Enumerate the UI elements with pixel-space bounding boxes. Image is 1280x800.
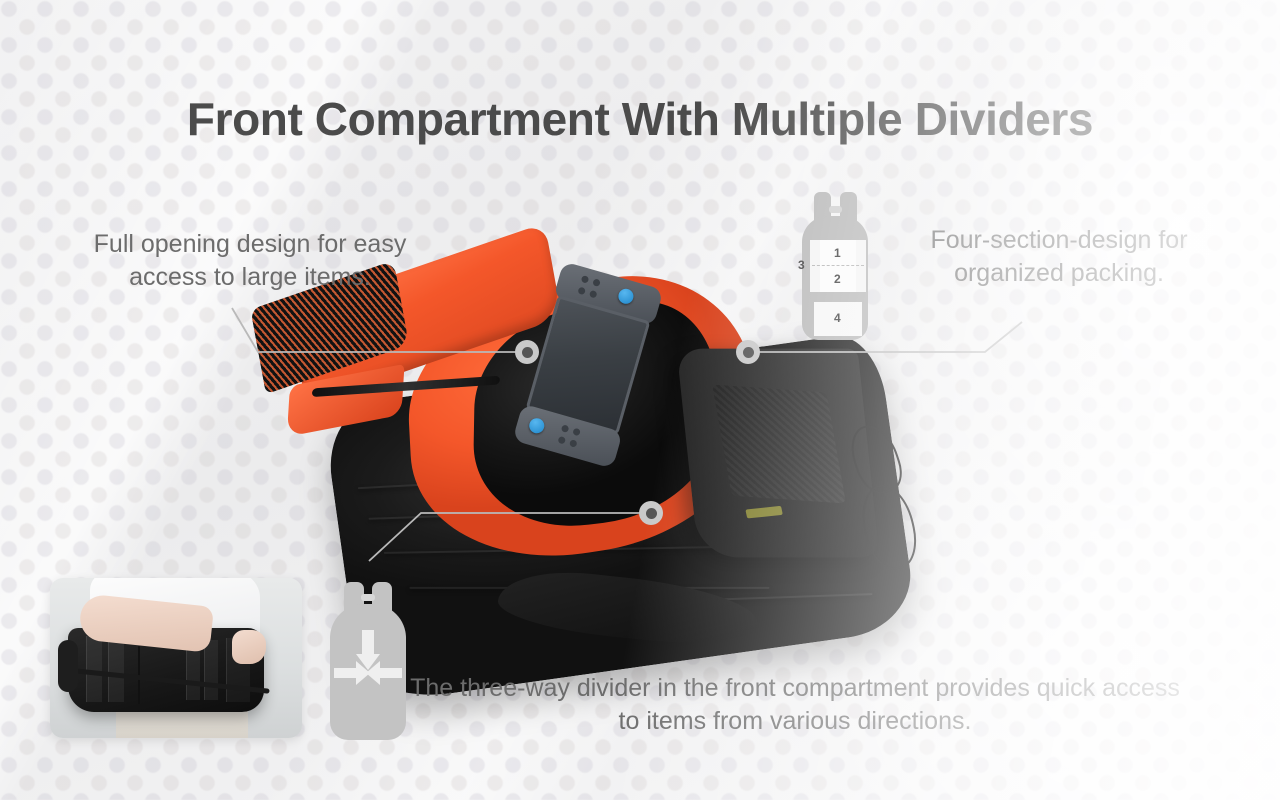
callout-dot-2[interactable] — [736, 340, 760, 364]
molle-webbing — [108, 636, 124, 702]
callout-dot-core — [743, 347, 754, 358]
molle-webbing — [204, 640, 218, 700]
callout-dot-3[interactable] — [639, 501, 663, 525]
access-arrows — [322, 582, 414, 740]
connector-line-right — [748, 322, 1022, 352]
backpack-handle — [829, 206, 842, 213]
side-strap — [58, 640, 78, 692]
backpack-three-way-access-diagram — [322, 582, 414, 740]
infographic-canvas: Front Compartment With Multiple Dividers — [0, 0, 1280, 800]
callout-dot-core — [646, 508, 657, 519]
callout-caption-four-section: Four-section-design for organized packin… — [894, 224, 1224, 290]
section-number-4: 4 — [834, 311, 841, 325]
person-hand — [232, 630, 266, 664]
connector-line-bottom — [369, 513, 651, 561]
lifestyle-photo-person-holding-backpack — [50, 578, 302, 738]
arrow-down-icon — [356, 630, 380, 670]
backpack-four-section-diagram: 1 2 3 4 — [796, 192, 874, 340]
section-number-2: 2 — [834, 272, 841, 286]
callout-caption-full-opening: Full opening design for easy access to l… — [54, 228, 446, 294]
callout-dot-1[interactable] — [515, 340, 539, 364]
section-divider-dashed — [812, 265, 864, 266]
callout-caption-three-way-divider: The three-way divider in the front compa… — [410, 672, 1180, 738]
callout-dot-core — [522, 347, 533, 358]
section-number-1: 1 — [834, 246, 841, 260]
section-number-3: 3 — [798, 258, 805, 272]
connector-line-left — [232, 308, 527, 352]
